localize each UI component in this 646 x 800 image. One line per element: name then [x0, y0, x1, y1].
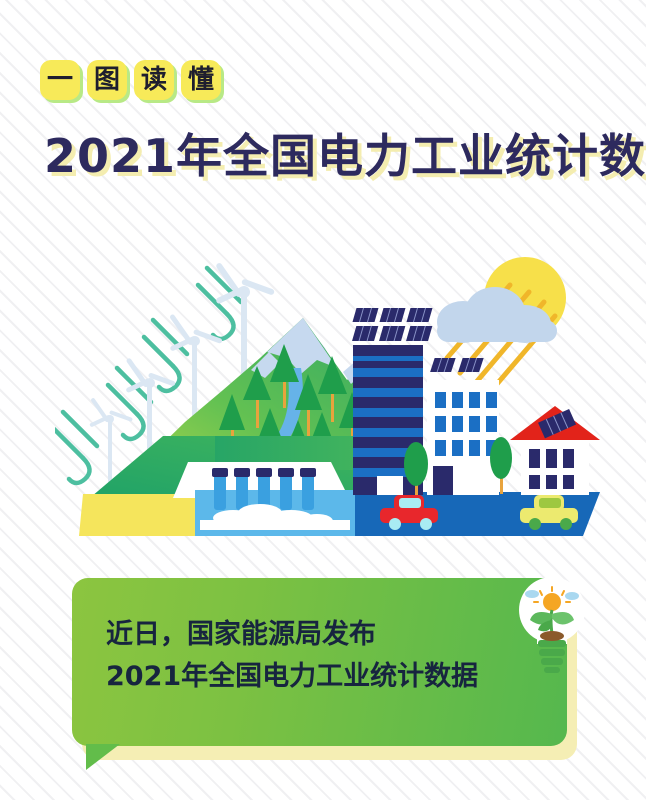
- callout-line-2: 2021年全国电力工业统计数据: [106, 656, 536, 698]
- badge-face: 懂: [181, 60, 221, 100]
- badge-face: 一: [40, 60, 80, 100]
- yellow-field: [79, 494, 195, 536]
- callout-text: 近日，国家能源局发布 2021年全国电力工业统计数据: [106, 614, 536, 698]
- white-apartment-building: [427, 358, 499, 495]
- callout-line-1: 近日，国家能源局发布: [106, 614, 536, 656]
- green-energy-illustration: [55, 240, 615, 540]
- badge-char-1: 一: [40, 60, 80, 100]
- lightbulb-sprout-icon: [512, 570, 592, 680]
- eyebrow-badge-group: 一 图 读 懂: [40, 60, 221, 100]
- badge-char-2: 图: [87, 60, 127, 100]
- solar-panels-apartment: [430, 358, 484, 372]
- solar-panels-roof: [352, 308, 432, 341]
- red-roof-house: [510, 406, 600, 495]
- badge-char-4: 懂: [181, 60, 221, 100]
- callout-bubble-tail: [86, 744, 120, 770]
- badge-char-3: 读: [134, 60, 174, 100]
- badge-face: 读: [134, 60, 174, 100]
- callout-bubble: 近日，国家能源局发布 2021年全国电力工业统计数据: [72, 578, 577, 768]
- page-background: 一 图 读 懂 2021年全国电力工业统计数据: [0, 0, 646, 800]
- page-title: 2021年全国电力工业统计数据: [44, 128, 624, 184]
- badge-face: 图: [87, 60, 127, 100]
- hydroelectric-dam: [173, 462, 355, 536]
